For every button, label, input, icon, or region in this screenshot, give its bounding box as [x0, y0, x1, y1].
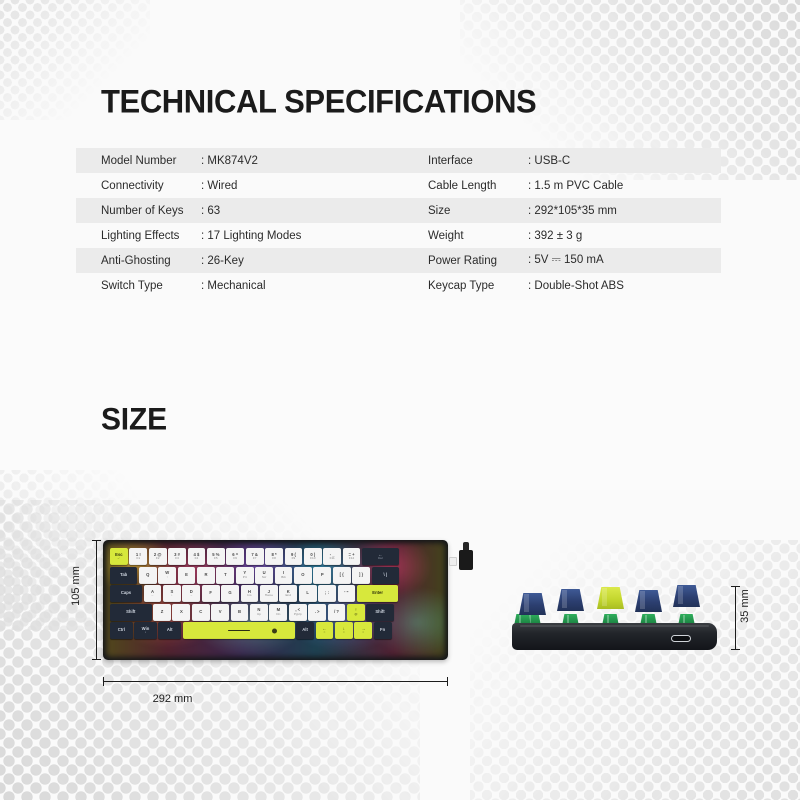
keycap-legend: Shift	[375, 610, 384, 614]
spec-pair-right: Interface: USB-C	[401, 155, 721, 167]
keycap-sublegend: Home	[265, 594, 273, 597]
keycap: / ?	[328, 604, 346, 621]
spec-value: : 1.5 m PVC Cable	[528, 180, 623, 192]
spec-pair-right: Weight: 392 ± 3 g	[401, 230, 721, 242]
keycap: G	[221, 585, 239, 602]
plug-body	[459, 550, 473, 570]
keycap: ; :	[318, 585, 336, 602]
keycap: →○	[354, 622, 372, 639]
keycap: 9 (F9	[285, 548, 303, 565]
spec-key: Number of Keys	[101, 205, 201, 217]
usb-c-port	[671, 635, 691, 642]
keycap: R	[197, 567, 215, 584]
keycap	[183, 622, 295, 639]
keyboard-row: CapsA←S↓D→FGHInsJHomeKEndL; :' "Enter	[110, 585, 441, 602]
keycap-legend: ' "	[344, 591, 348, 595]
keycap-grid: Esc~`1 !F12 @F23 #F34 $F45 %F56 ^F67 &F7…	[108, 546, 443, 639]
keycap-sublegend: F10	[310, 557, 315, 560]
spec-value: : 392 ± 3 g	[528, 230, 582, 242]
keycap-legend: [ {	[340, 573, 344, 577]
keycap-side-4	[635, 590, 662, 612]
spec-value: : MK874V2	[201, 155, 258, 167]
keycap: X	[172, 604, 190, 621]
keyboard-case: Esc~`1 !F12 @F23 #F34 $F45 %F56 ^F67 &F7…	[103, 540, 448, 660]
keycap-sublegend: Brk	[281, 576, 286, 579]
keycap-side-3	[597, 587, 624, 609]
keycap: IBrk	[275, 567, 293, 584]
keycap: C	[192, 604, 210, 621]
keycap: MDn	[269, 604, 287, 621]
keycap-sublegend: Del	[378, 557, 383, 560]
spec-pair-left: Connectivity: Wired	[76, 180, 401, 192]
keycap: W↑	[158, 567, 176, 584]
keycap: 7 &F7	[246, 548, 264, 565]
keycap-sublegend: End	[285, 594, 291, 597]
keycap-legend: Alt	[302, 628, 308, 632]
spec-pair-left: Anti-Ghosting: 26-Key	[76, 255, 401, 267]
keycap-sublegend: Scr	[262, 576, 267, 579]
keycap-sublegend: @	[354, 613, 357, 616]
keycap-sublegend: Ins	[247, 594, 251, 597]
keyboard-side-chassis	[512, 623, 717, 650]
keycap: F	[202, 585, 220, 602]
specifications-table: Model Number: MK874V2Interface: USB-CCon…	[76, 148, 721, 298]
keycap-legend: G	[228, 591, 231, 595]
keycap: Q	[139, 567, 157, 584]
spec-pair-left: Number of Keys: 63	[76, 205, 401, 217]
keycap: 6 ^F6	[226, 548, 244, 565]
spec-key: Keycap Type	[428, 280, 528, 292]
spec-key: Anti-Ghosting	[101, 255, 201, 267]
keyboard-top-view: Esc~`1 !F12 @F23 #F34 $F45 %F56 ^F67 &F7…	[103, 540, 448, 660]
keyboard-row: Esc~`1 !F12 @F23 #F34 $F45 %F56 ^F67 &F7…	[110, 548, 441, 565]
keycap: 2 @F2	[149, 548, 167, 565]
keycap-sublegend: F9	[292, 557, 296, 560]
keycap-side-2	[557, 589, 584, 611]
spec-value: : Wired	[201, 180, 237, 192]
keycap-legend: / ?	[334, 610, 339, 614]
spec-key: Cable Length	[428, 180, 528, 192]
keycap: 4 $F4	[188, 548, 206, 565]
spec-key: Model Number	[101, 155, 201, 167]
keyboard-row: CtrlWin▪AltAlt←○↓○→○Fn	[110, 622, 441, 639]
keycap-legend: Shift	[126, 610, 135, 614]
keycap-legend: Caps	[121, 591, 131, 595]
keycap: Enter	[357, 585, 399, 602]
keycap-sublegend: F5	[214, 557, 218, 560]
keycap: Z	[153, 604, 171, 621]
keycap-sublegend: PgUp	[294, 613, 302, 616]
keycap: ↑@	[347, 604, 365, 621]
dimension-label-height: 105 mm	[70, 566, 82, 606]
keycap-sublegend: F2	[156, 557, 160, 560]
keycap: Fn	[374, 622, 392, 639]
keycap: 3 #F3	[168, 548, 186, 565]
keycap: = +F12	[343, 548, 361, 565]
table-row: Anti-Ghosting: 26-KeyPower Rating: 5V ⎓ …	[76, 248, 721, 273]
keycap-legend: Q	[146, 573, 149, 577]
keycap-sublegend: ←	[151, 594, 154, 597]
keycap-legend: V	[219, 610, 222, 614]
keycap-side-5	[673, 585, 700, 607]
keyboard-side-view	[512, 585, 717, 650]
dimension-label-thickness: 35 mm	[739, 589, 751, 623]
keycap: ←Del	[362, 548, 399, 565]
keycap-sublegend: F11	[330, 557, 335, 560]
keycap-legend: L	[306, 591, 309, 595]
keycap: ←○	[316, 622, 334, 639]
keycap: JHome	[260, 585, 278, 602]
spec-value: : 17 Lighting Modes	[201, 230, 301, 242]
spec-value: : Double-Shot ABS	[528, 280, 624, 292]
keycap: L	[299, 585, 317, 602]
keycap-legend: ; :	[325, 591, 329, 595]
keycap-legend: T	[224, 573, 227, 577]
keycap-sublegend: F12	[349, 557, 354, 560]
dimension-label-width: 292 mm	[0, 693, 345, 705]
keycap: Tab	[110, 567, 137, 584]
keycap-legend: Fn	[380, 628, 385, 632]
keycap-legend: Z	[161, 610, 164, 614]
keycap-sublegend: ▪	[145, 631, 146, 634]
spacebar-groove	[228, 630, 250, 632]
keycap-legend: Alt	[167, 628, 173, 632]
keycap: , <PgUp	[289, 604, 307, 621]
keycap: O	[294, 567, 312, 584]
keycap-legend: Ctrl	[118, 628, 125, 632]
keycap: Win▪	[134, 622, 157, 639]
keycap: S↓	[163, 585, 181, 602]
keyboard-row: ShiftZXCVBNUpMDn, <PgUp. >/ ?↑@Shift	[110, 604, 441, 621]
keycap: NUp	[250, 604, 268, 621]
keycap: ' "	[338, 585, 356, 602]
keycap: D→	[182, 585, 200, 602]
page-title-technical-specifications: TECHNICAL SPECIFICATIONS	[101, 83, 536, 121]
keyboard-row: TabQW↑ERTYPrtUScrIBrkOP[ {] }\ |	[110, 567, 441, 584]
keycap-sublegend: F3	[175, 557, 179, 560]
keycap: Caps	[110, 585, 142, 602]
keycap: KEnd	[279, 585, 297, 602]
keycap-side-1	[519, 593, 546, 615]
table-row: Switch Type: MechanicalKeycap Type: Doub…	[76, 273, 721, 298]
keycap: Shift	[110, 604, 152, 621]
dimension-line-height	[96, 540, 97, 660]
keycap: 5 %F5	[207, 548, 225, 565]
keycap-sublegend: →	[190, 594, 193, 597]
spec-key: Switch Type	[101, 280, 201, 292]
spec-key: Power Rating	[428, 255, 528, 267]
keycap: 1 !F1	[129, 548, 147, 565]
spec-pair-right: Power Rating: 5V ⎓ 150 mA	[401, 254, 721, 267]
mid-white-band	[0, 300, 800, 490]
keycap-sublegend: F4	[195, 557, 199, 560]
table-row: Model Number: MK874V2Interface: USB-C	[76, 148, 721, 173]
keycap-legend: Tab	[120, 573, 127, 577]
keycap-legend: ] }	[359, 573, 363, 577]
keycap: 8 *F8	[265, 548, 283, 565]
spec-value: : USB-C	[528, 155, 570, 167]
spec-value: : Mechanical	[201, 280, 266, 292]
spec-pair-left: Switch Type: Mechanical	[76, 280, 401, 292]
keycap-sublegend: Prt	[243, 576, 247, 579]
table-row: Lighting Effects: 17 Lighting ModesWeigh…	[76, 223, 721, 248]
keycap-legend: C	[199, 610, 202, 614]
keycap: \ |	[372, 567, 399, 584]
keycap-sublegend: ↓	[171, 594, 173, 597]
keycap: Ctrl	[110, 622, 133, 639]
table-row: Connectivity: WiredCable Length: 1.5 m P…	[76, 173, 721, 198]
keycap: [ {	[333, 567, 351, 584]
keycap: E	[178, 567, 196, 584]
spec-pair-left: Lighting Effects: 17 Lighting Modes	[76, 230, 401, 242]
keycap-legend: . >	[315, 610, 320, 614]
keycap: Shift	[366, 604, 393, 621]
spec-value: : 292*105*35 mm	[528, 205, 617, 217]
keycap-sublegend: ○	[343, 631, 345, 634]
keycap: V	[211, 604, 229, 621]
keycap-sublegend: Dn	[276, 613, 280, 616]
keycap: UScr	[255, 567, 273, 584]
spec-pair-right: Keycap Type: Double-Shot ABS	[401, 280, 721, 292]
table-row: Number of Keys: 63Size: 292*105*35 mm	[76, 198, 721, 223]
keycap: Alt	[158, 622, 181, 639]
keycap-legend: R	[204, 573, 207, 577]
keycap-sublegend: Up	[257, 613, 261, 616]
keycap: B	[231, 604, 249, 621]
keycap: - _F11	[323, 548, 341, 565]
keycap-sublegend: F1	[136, 557, 140, 560]
section-title-size: SIZE	[101, 402, 167, 438]
spec-key: Weight	[428, 230, 528, 242]
keycap: ↓○	[335, 622, 353, 639]
spec-value: : 5V ⎓ 150 mA	[528, 254, 604, 267]
spec-key: Lighting Effects	[101, 230, 201, 242]
keycap: . >	[308, 604, 326, 621]
dimension-line-thickness	[735, 586, 736, 650]
keycap: A←	[144, 585, 162, 602]
keycap: T	[216, 567, 234, 584]
keycap-legend: P	[321, 573, 324, 577]
keycap: P	[313, 567, 331, 584]
spec-pair-right: Size: 292*105*35 mm	[401, 205, 721, 217]
spec-pair-right: Cable Length: 1.5 m PVC Cable	[401, 180, 721, 192]
keycap: HIns	[241, 585, 259, 602]
keycap-legend: O	[301, 573, 304, 577]
keycap-legend: X	[180, 610, 183, 614]
keycap-legend: \ |	[383, 573, 387, 577]
keycap-legend: E	[185, 573, 188, 577]
keycap-sublegend: F7	[253, 557, 257, 560]
dimension-line-width	[103, 681, 448, 682]
keycap-sublegend: ~`	[117, 557, 120, 560]
keycap-sublegend: F8	[272, 557, 276, 560]
spec-key: Size	[428, 205, 528, 217]
spec-key: Connectivity	[101, 180, 201, 192]
keycap: 0 )F10	[304, 548, 322, 565]
plug-tip	[449, 557, 457, 566]
keycap-legend: Enter	[372, 591, 383, 595]
halftone-pattern-bottom-right	[470, 540, 800, 800]
keycap-sublegend: ○	[324, 631, 326, 634]
keycap: ] }	[352, 567, 370, 584]
spec-key: Interface	[428, 155, 528, 167]
keycap: Esc~`	[110, 548, 128, 565]
spec-value: : 26-Key	[201, 255, 244, 267]
keycap-sublegend: ↑	[166, 576, 168, 579]
brand-logo	[272, 628, 277, 633]
keycap-sublegend: ○	[362, 631, 364, 634]
spec-pair-left: Model Number: MK874V2	[76, 155, 401, 167]
keycap-sublegend: F6	[233, 557, 237, 560]
keycap: Alt	[296, 622, 314, 639]
keycap-legend: B	[238, 610, 241, 614]
keycap: YPrt	[236, 567, 254, 584]
usb-c-cable-plug	[455, 542, 477, 576]
spec-value: : 63	[201, 205, 220, 217]
keycap-legend: F	[209, 591, 212, 595]
